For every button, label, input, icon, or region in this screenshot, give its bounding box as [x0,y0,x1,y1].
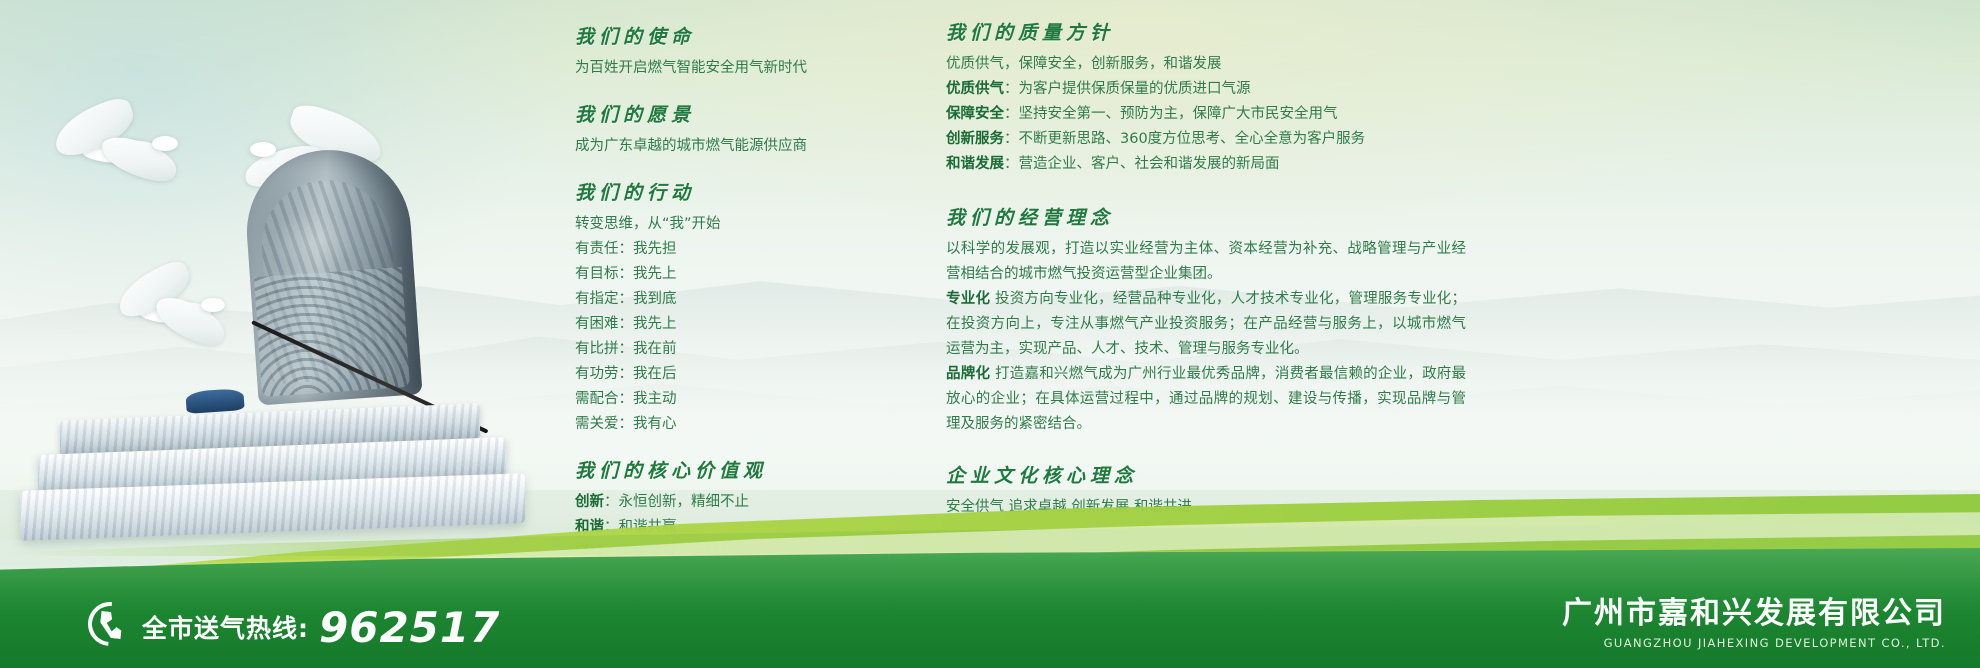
action-item-label: 需关爱 [575,416,619,432]
quality-policy-item: 保障安全：坚持安全第一、预防为主，保障广大市民安全用气 [946,102,1466,127]
footer-banner: 全市送气热线: 962517 广州市嘉和兴发展有限公司 GUANGZHOU JI… [0,458,1980,668]
management-philosophy-item: 品牌化 打造嘉和兴燃气成为广州行业最优秀品牌，消费者最信赖的企业，政府最放心的企… [946,362,1466,437]
management-philosophy-heading: 我们的经营理念 [946,203,1466,230]
action-heading: 我们的行动 [575,178,905,205]
quality-policy-label: 保障安全 [946,106,1004,122]
management-philosophy-text: 投资方向专业化，经营品种专业化，人才技术专业化，管理服务专业化；在投资方向上，专… [946,291,1466,357]
action-item-value: 我先担 [633,241,677,257]
hotline-group: 全市送气热线: 962517 [88,602,500,648]
action-item-value: 我在前 [633,341,677,357]
phone-handset-icon [88,602,132,646]
action-item-value: 我主动 [633,391,677,407]
action-item-label: 有目标 [575,266,619,282]
management-philosophy-label: 专业化 [946,291,990,307]
poster-canvas: 我们的使命 为百姓开启燃气智能安全用气新时代 我们的愿景 成为广东卓越的城市燃气… [0,0,1980,668]
action-item: 有责任：我先担 [575,237,905,262]
quality-policy-text: 不断更新思路、360度方位思考、全心全意为客户服务 [1019,131,1366,147]
quality-policy-label: 和谐发展 [946,156,1004,172]
action-item-label: 有责任 [575,241,619,257]
block-mission: 我们的使命 为百姓开启燃气智能安全用气新时代 [575,22,905,81]
action-item: 有比拼：我在前 [575,337,905,362]
block-quality-policy: 我们的质量方针 优质供气，保障安全，创新服务，和谐发展 优质供气：为客户提供保质… [946,18,1466,177]
hotline-label: 全市送气热线: [142,609,309,648]
vision-line: 成为广东卓越的城市燃气能源供应商 [575,134,905,159]
action-item: 需关爱：我有心 [575,412,905,437]
action-item: 有困难：我先上 [575,312,905,337]
action-intro: 转变思维，从“我”开始 [575,212,905,237]
action-item: 有功劳：我在后 [575,362,905,387]
blue-accent-stone [185,388,244,414]
quality-policy-label: 创新服务 [946,131,1004,147]
quality-policy-text: 坚持安全第一、预防为主，保障广大市民安全用气 [1019,106,1338,122]
action-item-label: 有困难 [575,316,619,332]
action-item: 有指定：我到底 [575,287,905,312]
action-item: 需配合：我主动 [575,387,905,412]
management-philosophy-item: 专业化 投资方向专业化，经营品种专业化，人才技术专业化，管理服务专业化；在投资方… [946,287,1466,362]
quality-policy-summary: 优质供气，保障安全，创新服务，和谐发展 [946,52,1466,77]
management-philosophy-intro: 以科学的发展观，打造以实业经营为主体、资本经营为补充、战略管理与产业经营相结合的… [946,237,1466,287]
action-item-value: 我有心 [633,416,677,432]
company-brand-block: 广州市嘉和兴发展有限公司 GUANGZHOU JIAHEXING DEVELOP… [1562,597,1946,650]
action-item-value: 我在后 [633,366,677,382]
action-item-value: 我先上 [633,316,677,332]
action-item-label: 有指定 [575,291,619,307]
hotline-number: 962517 [319,608,500,648]
quality-policy-label: 优质供气 [946,81,1004,97]
quality-policy-text: 为客户提供保质保量的优质进口气源 [1019,81,1251,97]
mission-heading: 我们的使命 [575,22,905,49]
action-item-label: 需配合 [575,391,619,407]
action-item: 有目标：我先上 [575,262,905,287]
action-item-label: 有功劳 [575,366,619,382]
company-name-cn: 广州市嘉和兴发展有限公司 [1562,597,1946,631]
block-vision: 我们的愿景 成为广东卓越的城市燃气能源供应商 [575,100,905,159]
management-philosophy-text: 打造嘉和兴燃气成为广州行业最优秀品牌，消费者最信赖的企业，政府最放心的企业；在具… [946,366,1466,432]
block-action: 我们的行动 转变思维，从“我”开始 有责任：我先担 有目标：我先上 有指定：我到… [575,178,905,437]
block-management-philosophy: 我们的经营理念 以科学的发展观，打造以实业经营为主体、资本经营为补充、战略管理与… [946,203,1466,437]
action-item-value: 我到底 [633,291,677,307]
action-item-label: 有比拼 [575,341,619,357]
quality-policy-heading: 我们的质量方针 [946,18,1466,45]
vision-heading: 我们的愿景 [575,100,905,127]
quality-policy-item: 优质供气：为客户提供保质保量的优质进口气源 [946,77,1466,102]
mission-line: 为百姓开启燃气智能安全用气新时代 [575,56,905,81]
quality-policy-text: 营造企业、客户、社会和谐发展的新局面 [1019,156,1280,172]
company-name-en: GUANGZHOU JIAHEXING DEVELOPMENT CO., LTD… [1562,636,1946,650]
quality-policy-item: 和谐发展：营造企业、客户、社会和谐发展的新局面 [946,152,1466,177]
action-item-value: 我先上 [633,266,677,282]
management-philosophy-label: 品牌化 [946,366,990,382]
quality-policy-item: 创新服务：不断更新思路、360度方位思考、全心全意为客户服务 [946,127,1466,152]
